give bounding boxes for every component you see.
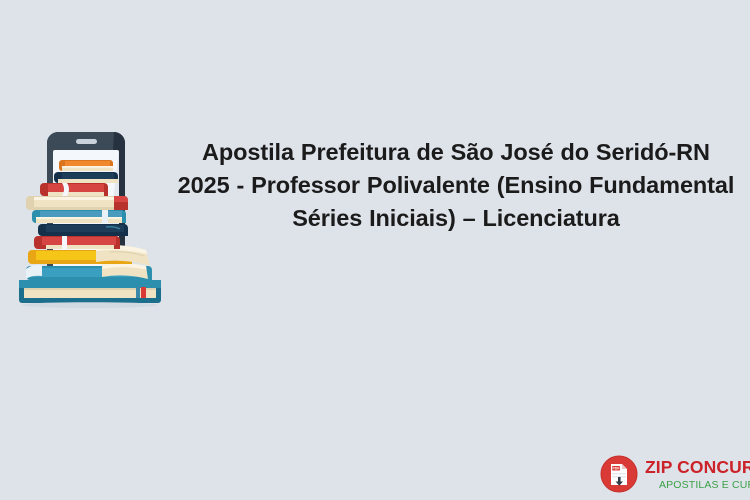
book-red-lower [34, 236, 120, 249]
brand-name: ZIP CONCURSOS [645, 459, 750, 477]
title-block: Apostila Prefeitura de São José do Serid… [176, 136, 736, 235]
book-base-teal [19, 280, 161, 303]
books-and-smartphone-illustration [10, 128, 170, 313]
svg-text:PDF: PDF [612, 467, 620, 471]
book-red-upper [40, 183, 108, 196]
book-navy-mid [38, 224, 128, 236]
book-navy-upper [54, 172, 118, 183]
page-title: Apostila Prefeitura de São José do Serid… [176, 136, 736, 235]
brand-tagline: APOSTILAS E CURSOS [659, 480, 750, 491]
product-banner: Apostila Prefeitura de São José do Serid… [0, 0, 750, 500]
book-orange-top [59, 160, 113, 171]
brand-wordmark: ZIP CONCURSOS APOSTILAS E CURSOS [645, 458, 750, 490]
brand-logo[interactable]: PDF ZIP CONCURSOS APOSTILAS E CURSOS [600, 452, 742, 496]
pdf-download-badge-icon: PDF [600, 455, 638, 493]
book-blue-pages [32, 210, 126, 223]
book-cream-pages [26, 196, 128, 210]
